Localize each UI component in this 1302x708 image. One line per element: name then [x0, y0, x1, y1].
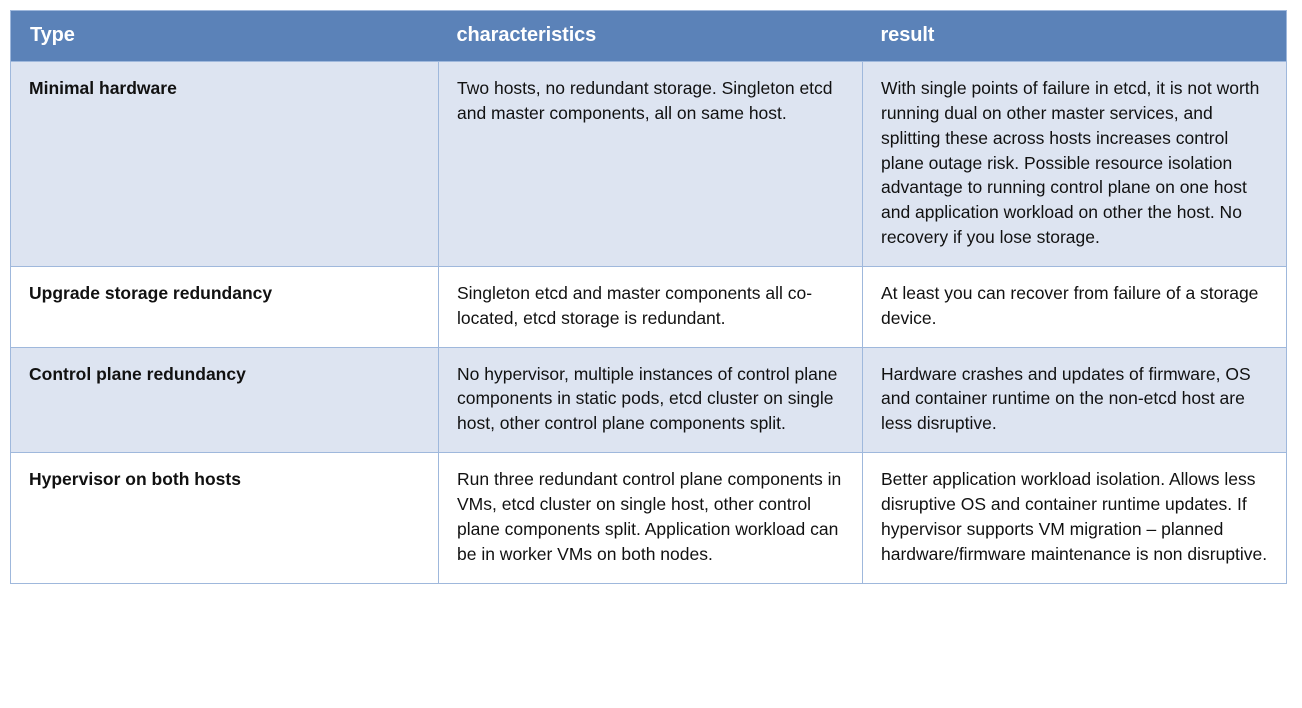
table-header: Type characteristics result: [11, 11, 1287, 62]
cell-text-characteristics: Two hosts, no redundant storage. Singlet…: [457, 76, 844, 126]
cell-result: At least you can recover from failure of…: [863, 266, 1287, 347]
comparison-table: Type characteristics result Minimal hard…: [10, 10, 1287, 584]
comparison-table-container: Type characteristics result Minimal hard…: [10, 10, 1286, 584]
table-row: Minimal hardware Two hosts, no redundant…: [11, 62, 1287, 267]
cell-text-type: Minimal hardware: [29, 76, 420, 101]
cell-text-characteristics: No hypervisor, multiple instances of con…: [457, 362, 844, 437]
cell-text-type: Upgrade storage redundancy: [29, 281, 420, 306]
table-header-row: Type characteristics result: [11, 11, 1287, 62]
cell-type: Upgrade storage redundancy: [11, 266, 439, 347]
column-header-characteristics: characteristics: [439, 11, 863, 62]
table-body: Minimal hardware Two hosts, no redundant…: [11, 62, 1287, 584]
cell-result: Better application workload isolation. A…: [863, 453, 1287, 583]
column-header-result: result: [863, 11, 1287, 62]
cell-characteristics: Two hosts, no redundant storage. Singlet…: [439, 62, 863, 267]
cell-type: Control plane redundancy: [11, 347, 439, 453]
cell-characteristics: Singleton etcd and master components all…: [439, 266, 863, 347]
table-row: Control plane redundancy No hypervisor, …: [11, 347, 1287, 453]
cell-result: With single points of failure in etcd, i…: [863, 62, 1287, 267]
cell-text-result: With single points of failure in etcd, i…: [881, 76, 1268, 250]
cell-text-type: Hypervisor on both hosts: [29, 467, 420, 492]
page-root: Type characteristics result Minimal hard…: [0, 0, 1302, 708]
cell-text-result: Hardware crashes and updates of firmware…: [881, 362, 1268, 437]
cell-text-result: At least you can recover from failure of…: [881, 281, 1268, 331]
column-header-type: Type: [11, 11, 439, 62]
cell-type: Hypervisor on both hosts: [11, 453, 439, 583]
cell-result: Hardware crashes and updates of firmware…: [863, 347, 1287, 453]
cell-text-result: Better application workload isolation. A…: [881, 467, 1268, 566]
cell-text-characteristics: Run three redundant control plane compon…: [457, 467, 844, 566]
cell-type: Minimal hardware: [11, 62, 439, 267]
cell-text-characteristics: Singleton etcd and master components all…: [457, 281, 844, 331]
table-row: Hypervisor on both hosts Run three redun…: [11, 453, 1287, 583]
cell-characteristics: No hypervisor, multiple instances of con…: [439, 347, 863, 453]
cell-characteristics: Run three redundant control plane compon…: [439, 453, 863, 583]
cell-text-type: Control plane redundancy: [29, 362, 420, 387]
table-row: Upgrade storage redundancy Singleton etc…: [11, 266, 1287, 347]
